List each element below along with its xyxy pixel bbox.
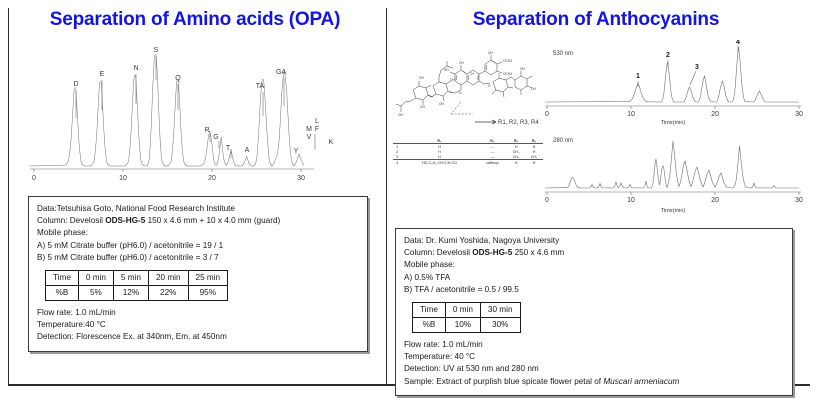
- peak-label-530-3: 3: [695, 64, 699, 71]
- table-row: Time 0 min 30 min: [413, 303, 521, 318]
- x-tick-280-20: 20: [711, 197, 719, 204]
- peak-label-L: L: [315, 118, 319, 125]
- anthocyanin-chromatogram-530: 530 nm 0 10 20 30 Time(min) 1 2 3 4: [539, 40, 805, 128]
- peak-label-530-4: 4: [736, 40, 740, 46]
- structure-arrow-label: R1, R2, R3, R4: [498, 120, 539, 126]
- right-column-bold: ODS-HG-5: [472, 248, 512, 257]
- right-grad-rowlabel-time: Time: [413, 303, 446, 318]
- structure-label-o-2: O: [488, 84, 491, 88]
- left-mobile-b: B) 5 mM Citrate buffer (pH6.0) / acetoni…: [37, 252, 359, 264]
- x-tick-280-10: 10: [627, 197, 635, 204]
- right-gradient-table: Time 0 min 30 min %B 10% 30%: [412, 302, 521, 333]
- x-tick-30: 30: [297, 175, 305, 182]
- left-method-infobox: Data:Tetsuhisa Goto, National Food Resea…: [28, 196, 368, 352]
- right-column-prefix: Column: Develosil: [404, 248, 472, 257]
- left-grad-b-2: 22%: [148, 286, 188, 301]
- peak-label-530-2: 2: [666, 52, 670, 59]
- left-panel: Separation of Amino acids (OPA) 0 10 20 …: [8, 0, 386, 384]
- x-tick-530-0: 0: [545, 111, 549, 118]
- chromatogram-280-svg: 280 nm 0 10 20 30 Time(min): [539, 126, 805, 218]
- left-detection: Detection: Florescence Ex. at 340nm, Em.…: [37, 331, 359, 343]
- left-grad-time-2: 20 min: [148, 271, 188, 286]
- left-grad-time-1: 5 min: [113, 271, 148, 286]
- structure-label-ho: HO: [444, 68, 449, 72]
- structure-label-oh-4: OH: [450, 78, 455, 82]
- peak-label-Y: Y: [294, 148, 299, 155]
- left-grad-time-0: 0 min: [78, 271, 113, 286]
- x-tick-20: 20: [208, 175, 216, 182]
- x-axis-ticks-530: [547, 106, 799, 109]
- right-sample-line: Sample: Extract of purplish blue spicate…: [404, 376, 784, 388]
- subst-r3c3: H: [507, 160, 525, 166]
- peak-label-Q: Q: [175, 75, 181, 82]
- right-column-suffix: 250 x 4.6 mm: [512, 248, 564, 257]
- left-grad-rowlabel-time: Time: [46, 271, 79, 286]
- x-tick-530-10: 10: [627, 111, 635, 118]
- structure-label-o-1: O: [459, 91, 462, 95]
- right-grad-time-1: 30 min: [480, 303, 520, 318]
- amino-acid-chromatogram: 0 10 20 30 D E N S Q R: [26, 38, 366, 186]
- left-grad-b-3: 95%: [188, 286, 228, 301]
- peak-label-GA: GA: [276, 69, 286, 76]
- structure-label-oh-3: OH: [419, 76, 424, 80]
- chromatogram-530-trace: [545, 47, 799, 102]
- right-column-line: Column: Develosil ODS-HG-5 250 x 4.6 mm: [404, 247, 784, 259]
- amino-acid-chromatogram-svg: 0 10 20 30 D E N S Q R: [26, 38, 366, 186]
- peak-label-A: A: [245, 147, 250, 154]
- right-mobile-a: A) 0.5% TFA: [404, 272, 784, 284]
- right-mobile-b: B) TFA / acetonitrile = 0.5 / 99.5: [404, 284, 784, 296]
- slide-page: Separation of Amino acids (OPA) 0 10 20 …: [0, 0, 818, 402]
- x-axis-ticks-280: [547, 192, 799, 195]
- left-mobile-phase-label: Mobile phase:: [37, 227, 359, 239]
- peak-number-labels-530: 1 2 3 4: [636, 40, 740, 87]
- wavelength-label-530: 530 nm: [553, 51, 573, 57]
- right-method-infobox: Data: Dr. Kumi Yoshida, Nagoya Universit…: [395, 228, 793, 396]
- left-grad-time-3: 25 min: [188, 271, 228, 286]
- structure-label-och3-2: OCH3: [503, 72, 512, 76]
- structure-label-och3-1: OCH3: [503, 59, 512, 63]
- subst-r3c2: caffeoyl: [478, 160, 508, 166]
- left-column-suffix: 150 x 4.6 mm + 10 x 4.0 mm (guard): [145, 216, 280, 225]
- x-tick-530-30: 30: [795, 111, 803, 118]
- left-panel-title: Separation of Amino acids (OPA): [8, 9, 382, 31]
- x-tick-10: 10: [119, 175, 127, 182]
- right-temperature: Temperature: 40 °C: [404, 351, 784, 363]
- structure-bonds: [396, 55, 532, 124]
- structure-label-oh-1: OH: [459, 61, 464, 65]
- left-column-bold: ODS-HG-5: [105, 216, 145, 225]
- left-data-line: Data:Tetsuhisa Goto, National Food Resea…: [37, 203, 359, 215]
- peak-label-TA: TA: [256, 83, 265, 90]
- peak-label-530-1: 1: [636, 73, 640, 80]
- structure-label-oh-7: OH: [398, 113, 403, 117]
- x-axis-title-280: Time(min): [661, 208, 686, 214]
- peak-label-F: F: [315, 126, 319, 133]
- peak-labels: D E N S Q R G T A: [73, 47, 333, 158]
- peak-label-D: D: [73, 81, 78, 88]
- peak-label-M: M: [306, 126, 312, 133]
- structure-label-oh-2: OH: [488, 51, 493, 55]
- left-flow-rate: Flow rate: 1.0 mL/min: [37, 307, 359, 319]
- peak-label-S: S: [154, 47, 159, 54]
- right-detection: Detection: UV at 530 nm and 280 nm: [404, 363, 784, 375]
- peak-label-N: N: [133, 65, 138, 72]
- right-mobile-phase-label: Mobile phase:: [404, 259, 784, 271]
- x-tick-530-20: 20: [711, 111, 719, 118]
- subst-r3c0: 4: [393, 160, 401, 166]
- anthocyanin-chromatogram-280: 280 nm 0 10 20 30 Time(min): [539, 126, 805, 218]
- peak-label-E: E: [100, 71, 105, 78]
- left-gradient-table: Time 0 min 5 min 20 min 25 min %B 5% 12%…: [45, 270, 228, 301]
- chromatogram-530-svg: 530 nm 0 10 20 30 Time(min) 1 2 3 4: [539, 40, 805, 128]
- left-temperature: Temperature:40 °C: [37, 319, 359, 331]
- left-grad-b-1: 12%: [113, 286, 148, 301]
- anthocyanin-structure-svg: OH HO O OH OCH3 OCH3 O O+ OH OH OH OH OH…: [393, 40, 543, 136]
- left-column-line: Column: Develosil ODS-HG-5 150 x 4.6 mm …: [37, 215, 359, 227]
- peak-label-V: V: [307, 134, 312, 141]
- x-tick-0: 0: [32, 175, 36, 182]
- table-row: %B 10% 30%: [413, 318, 521, 333]
- peak-label-G: G: [213, 134, 218, 141]
- structure-label-oh-9: OH: [531, 87, 536, 91]
- peak-label-T: T: [226, 145, 231, 152]
- left-grad-rowlabel-b: %B: [46, 286, 79, 301]
- right-panel: Separation of Anthocyanins: [387, 0, 810, 384]
- peak-label-R: R: [204, 127, 209, 134]
- structure-label-oh-6: OH: [420, 105, 425, 109]
- right-panel-title: Separation of Anthocyanins: [387, 9, 805, 31]
- left-mobile-a: A) 5 mM Citrate buffer (pH6.0) / acetoni…: [37, 240, 359, 252]
- structure-label-oplus: O+: [470, 72, 474, 76]
- x-axis-ticks: [34, 169, 301, 172]
- right-sample-prefix: Sample: Extract of purplish blue spicate…: [404, 377, 603, 386]
- anthocyanin-structure-figure: OH HO O OH OCH3 OCH3 O O+ OH OH OH OH OH…: [393, 40, 543, 136]
- right-flow-rate: Flow rate: 1.0 mL/min: [404, 339, 784, 351]
- right-sample-species: Muscari armeniacum: [603, 377, 679, 386]
- peak-leader-530-3: [690, 71, 696, 85]
- wavelength-label-280: 280 nm: [553, 138, 573, 144]
- peak-label-K: K: [329, 139, 334, 146]
- structure-label-oh-8: OH: [520, 67, 525, 71]
- substituent-table: R₁ R₂ R₃ R₄ 1 H — H H 2 H — CH₃ H: [393, 138, 543, 224]
- substituent-table-grid: R₁ R₂ R₃ R₄ 1 H — H H 2 H — CH₃ H: [393, 138, 543, 165]
- table-row: %B 5% 12% 22% 95%: [46, 286, 228, 301]
- table-row: 4 HO-C₆H₄-CH=CH-CO caffeoyl H H: [393, 160, 543, 166]
- structure-label-oh-5: OH: [439, 102, 444, 106]
- x-tick-280-30: 30: [795, 197, 803, 204]
- table-row: Time 0 min 5 min 20 min 25 min: [46, 271, 228, 286]
- left-grad-b-0: 5%: [78, 286, 113, 301]
- right-data-line: Data: Dr. Kumi Yoshida, Nagoya Universit…: [404, 235, 784, 247]
- subst-r3c1: HO-C₆H₄-CH=CH-CO: [401, 160, 477, 166]
- chromatogram-280-trace: [545, 141, 799, 188]
- right-grad-rowlabel-b: %B: [413, 318, 446, 333]
- left-column-prefix: Column: Develosil: [37, 216, 105, 225]
- right-grad-b-0: 10%: [445, 318, 480, 333]
- x-tick-280-0: 0: [545, 197, 549, 204]
- right-grad-b-1: 30%: [480, 318, 520, 333]
- right-grad-time-0: 0 min: [445, 303, 480, 318]
